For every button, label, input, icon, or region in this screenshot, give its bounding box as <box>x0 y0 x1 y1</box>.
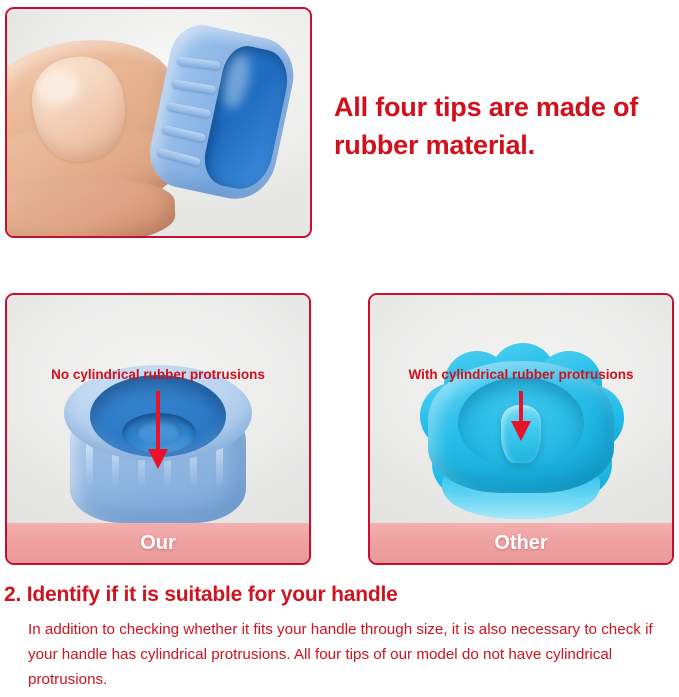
section-body-text: In addition to checking whether it fits … <box>28 617 676 692</box>
down-arrow-icon <box>510 391 532 449</box>
other-caption: With cylindrical rubber protrusions <box>370 367 672 382</box>
other-banner: Other <box>370 523 672 563</box>
section-heading: 2. Identify if it is suitable for your h… <box>4 583 664 607</box>
hand-holding-tip-panel <box>5 7 312 238</box>
our-product-photo: No cylindrical rubber protrusions <box>7 295 309 523</box>
down-arrow-icon <box>147 391 169 471</box>
comparison-panel-other: With cylindrical rubber protrusions Othe… <box>368 293 674 565</box>
comparison-panel-our: No cylindrical rubber protrusions Our <box>5 293 311 565</box>
other-product-photo: With cylindrical rubber protrusions <box>370 295 672 523</box>
headline-text: All four tips are made of rubber materia… <box>334 88 672 165</box>
our-banner: Our <box>7 523 309 563</box>
our-banner-label: Our <box>140 532 176 555</box>
arrow-shaft <box>156 391 160 453</box>
our-caption: No cylindrical rubber protrusions <box>7 367 309 382</box>
other-banner-label: Other <box>494 532 547 555</box>
arrow-head <box>148 449 168 469</box>
arrow-head <box>511 421 531 441</box>
